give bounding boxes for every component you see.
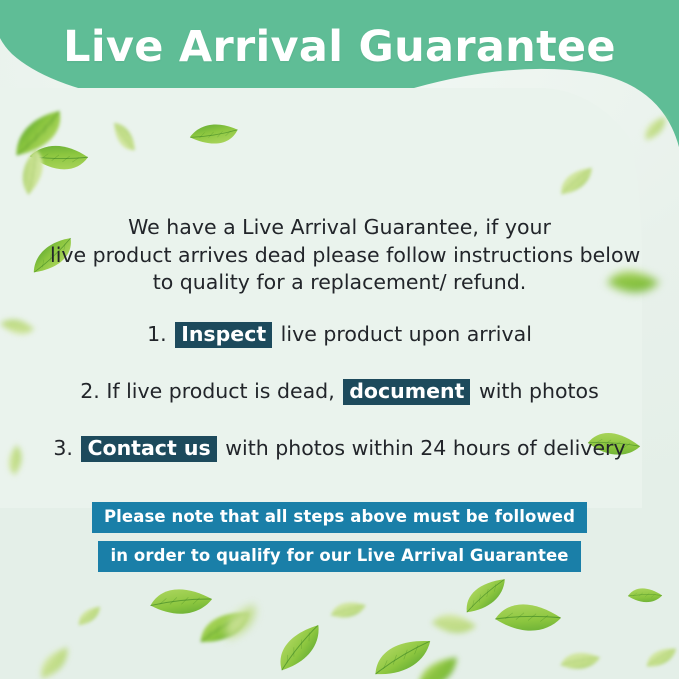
step-highlight-contact-us: Contact us bbox=[81, 436, 216, 462]
page-title: Live Arrival Guarantee bbox=[0, 22, 679, 72]
step-item: 2. If live product is dead, document wit… bbox=[0, 379, 679, 405]
step-posttext: with photos within 24 hours of delivery bbox=[225, 436, 625, 460]
step-highlight-document: document bbox=[343, 379, 470, 405]
intro-line-2: live product arrives dead please follow … bbox=[50, 242, 629, 270]
step-number: 3. bbox=[53, 436, 73, 460]
content-area: We have a Live Arrival Guarantee, if you… bbox=[0, 0, 679, 679]
note-banner: in order to qualify for our Live Arrival… bbox=[98, 541, 580, 572]
step-pretext: If live product is dead, bbox=[106, 379, 334, 403]
step-number: 1. bbox=[147, 322, 167, 346]
intro-line-1: We have a Live Arrival Guarantee, if you… bbox=[50, 214, 629, 242]
steps-list: 1. Inspect live product upon arrival 2. … bbox=[0, 322, 679, 493]
step-item: 1. Inspect live product upon arrival bbox=[0, 322, 679, 348]
step-highlight-inspect: Inspect bbox=[175, 322, 272, 348]
note-banner-group: Please note that all steps above must be… bbox=[0, 502, 679, 580]
step-number: 2. bbox=[80, 379, 100, 403]
intro-line-3: to quality for a replacement/ refund. bbox=[50, 269, 629, 297]
live-arrival-guarantee-poster: Live Arrival Guarantee We have a Live Ar… bbox=[0, 0, 679, 679]
note-banner: Please note that all steps above must be… bbox=[92, 502, 587, 533]
step-posttext: with photos bbox=[479, 379, 599, 403]
intro-paragraph: We have a Live Arrival Guarantee, if you… bbox=[50, 214, 629, 297]
step-posttext: live product upon arrival bbox=[281, 322, 532, 346]
step-item: 3. Contact us with photos within 24 hour… bbox=[0, 436, 679, 462]
